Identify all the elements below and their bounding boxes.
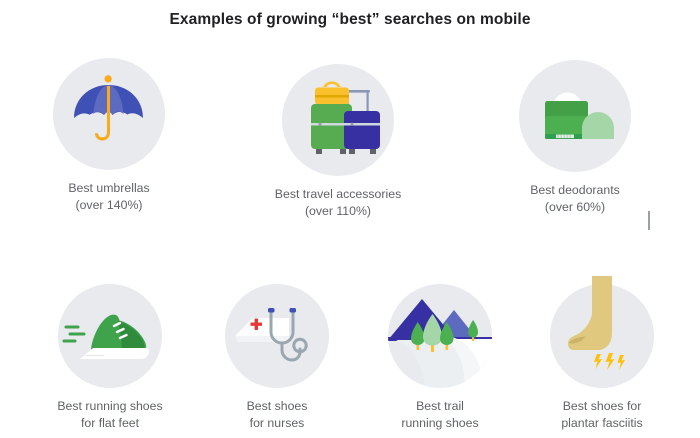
icon-circle-running-shoe bbox=[58, 284, 162, 388]
caption-line-2: for nurses bbox=[250, 416, 305, 430]
icon-circle-trail bbox=[388, 284, 492, 388]
caption-line-2: (over 140%) bbox=[76, 198, 143, 212]
caption-line-1: Best running shoes bbox=[57, 399, 162, 413]
caption-line-1: Best shoes bbox=[247, 399, 308, 413]
item-caption: Best deodorants (over 60%) bbox=[491, 182, 659, 215]
running-shoe-icon bbox=[58, 284, 162, 388]
item-best-running-shoes-flat-feet: Best running shoes for flat feet bbox=[34, 284, 186, 431]
text-cursor-caret bbox=[648, 211, 650, 230]
caption-line-1: Best umbrellas bbox=[68, 181, 149, 195]
caption-line-1: Best shoes for bbox=[563, 399, 642, 413]
nurse-cap-stethoscope-icon bbox=[225, 284, 329, 388]
umbrella-icon bbox=[53, 58, 165, 170]
caption-line-2: plantar fasciitis bbox=[561, 416, 642, 430]
item-best-travel-accessories: Best travel accessories (over 110%) bbox=[252, 64, 424, 219]
caption-line-1: Best trail bbox=[416, 399, 464, 413]
icon-circle-nurse bbox=[225, 284, 329, 388]
luggage-icon bbox=[282, 64, 394, 176]
item-best-umbrellas: Best umbrellas (over 140%) bbox=[24, 58, 194, 213]
deodorant-icon bbox=[519, 60, 631, 172]
caption-line-1: Best deodorants bbox=[530, 183, 620, 197]
item-caption: Best trail running shoes bbox=[366, 398, 514, 431]
item-best-shoes-plantar-fasciitis: Best shoes for plantar fasciitis bbox=[524, 284, 680, 431]
mountain-trail-icon bbox=[388, 284, 492, 388]
item-caption: Best running shoes for flat feet bbox=[34, 398, 186, 431]
item-caption: Best shoes for nurses bbox=[203, 398, 351, 431]
caption-line-2: (over 60%) bbox=[545, 200, 605, 214]
caption-line-2: (over 110%) bbox=[305, 204, 371, 218]
icon-circle-umbrella bbox=[53, 58, 165, 170]
page-title: Examples of growing “best” searches on m… bbox=[0, 11, 700, 29]
foot-pain-icon bbox=[550, 284, 654, 388]
item-caption: Best shoes for plantar fasciitis bbox=[524, 398, 680, 431]
item-best-trail-running-shoes: Best trail running shoes bbox=[366, 284, 514, 431]
icon-circle-deodorant bbox=[519, 60, 631, 172]
item-best-deodorants: Best deodorants (over 60%) bbox=[491, 60, 659, 215]
caption-line-1: Best travel accessories bbox=[275, 187, 401, 201]
icon-circle-luggage bbox=[282, 64, 394, 176]
item-best-shoes-for-nurses: Best shoes for nurses bbox=[203, 284, 351, 431]
caption-line-2: running shoes bbox=[401, 416, 478, 430]
item-caption: Best umbrellas (over 140%) bbox=[24, 180, 194, 213]
item-caption: Best travel accessories (over 110%) bbox=[252, 186, 424, 219]
caption-line-2: for flat feet bbox=[81, 416, 139, 430]
icon-circle-foot bbox=[550, 284, 654, 388]
